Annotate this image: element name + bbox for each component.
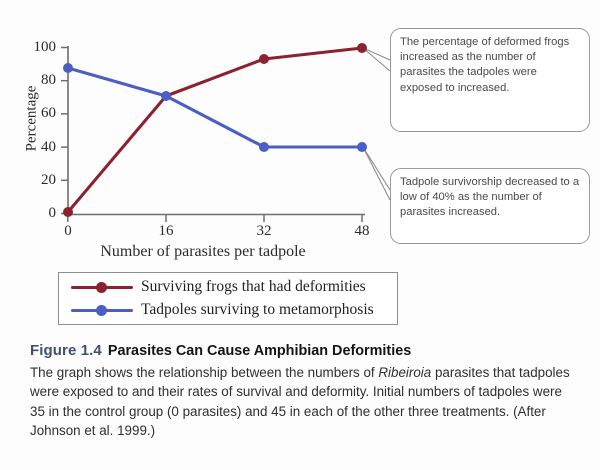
chart-plot-area: 100 80 60 40 20 0 0 16 32 48 Percentage … <box>0 0 600 335</box>
y-tick-label-0: 0 <box>22 205 56 222</box>
caption-heading: Figure 1.4Parasites Can Cause Amphibian … <box>30 341 570 362</box>
annotation-callout-deformed-frogs: The percentage of deformed frogs increas… <box>390 28 590 132</box>
callout-leader-survivorship <box>363 147 390 200</box>
annotation-callout-survivorship: Tadpole survivorship decreased to a low … <box>390 168 590 244</box>
legend-label-tadpoles: Tadpoles surviving to metamorphosis <box>141 301 374 319</box>
series-line-deformed-frogs <box>68 48 362 212</box>
caption-title: Parasites Can Cause Amphibian Deformitie… <box>108 343 411 359</box>
caption-body: The graph shows the relationship between… <box>30 363 570 441</box>
x-tick-label-16: 16 <box>146 223 186 240</box>
y-axis-title: Percentage <box>24 69 41 169</box>
legend-swatch-deformed-frogs <box>71 280 133 294</box>
callout-leader-deformed <box>363 48 390 71</box>
caption-figure-number: Figure 1.4 <box>30 342 102 359</box>
x-axis-title: Number of parasites per tadpole <box>48 243 358 261</box>
legend-item-tadpoles: Tadpoles surviving to metamorphosis <box>59 298 397 322</box>
x-tick-label-0: 0 <box>48 223 88 240</box>
caption-body-part1: The graph shows the relationship between… <box>30 365 378 380</box>
x-tick-label-48: 48 <box>342 223 382 240</box>
legend-label-deformed-frogs: Surviving frogs that had deformities <box>141 278 366 296</box>
series-markers-deformed-frogs <box>63 43 367 217</box>
y-tick-label-20: 20 <box>22 172 56 189</box>
chart-legend: Surviving frogs that had deformities Tad… <box>58 272 398 325</box>
figure-container: 100 80 60 40 20 0 0 16 32 48 Percentage … <box>0 0 600 470</box>
x-tick-label-32: 32 <box>244 223 284 240</box>
series-line-tadpoles <box>68 68 362 147</box>
legend-swatch-tadpoles <box>71 303 133 317</box>
y-tick-label-100: 100 <box>22 39 56 56</box>
legend-item-deformed-frogs: Surviving frogs that had deformities <box>59 275 397 299</box>
caption-species-name: Ribeiroia <box>378 365 431 380</box>
figure-caption: Figure 1.4Parasites Can Cause Amphibian … <box>30 341 570 441</box>
